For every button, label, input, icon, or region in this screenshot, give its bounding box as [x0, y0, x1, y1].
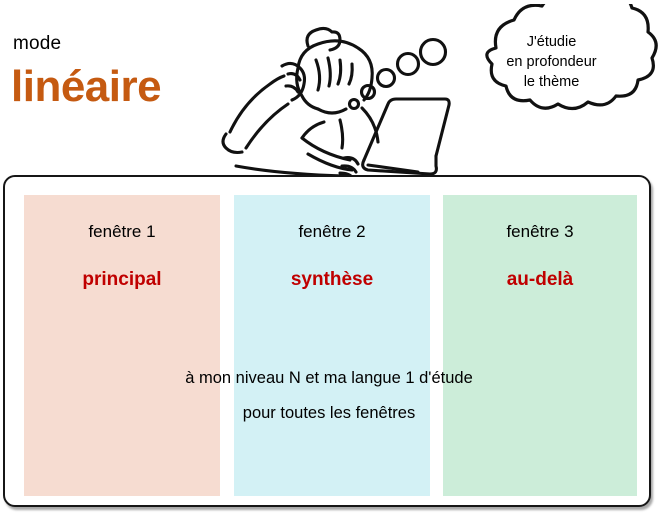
thought-bubble-text: J'étudie en profondeur le thème [484, 32, 619, 92]
bubble-line-1: J'étudie [484, 32, 619, 52]
person-studying-at-laptop-icon [212, 8, 452, 178]
column-1-header: fenêtre 1 [24, 222, 220, 242]
mode-label: mode [13, 33, 61, 55]
page-title: linéaire [11, 62, 161, 112]
column-3-header: fenêtre 3 [443, 222, 637, 242]
bubble-line-2: en profondeur [484, 52, 619, 72]
main-panel: fenêtre 1 principal fenêtre 2 synthèse f… [3, 175, 651, 507]
thought-bubble: J'étudie en profondeur le thème [444, 4, 659, 136]
column-fenetre-2[interactable]: fenêtre 2 synthèse [234, 195, 430, 496]
column-2-value: synthèse [234, 269, 430, 291]
header-area: mode linéaire [0, 0, 659, 175]
column-1-value: principal [24, 269, 220, 291]
bubble-line-3: le thème [484, 72, 619, 92]
column-fenetre-3[interactable]: fenêtre 3 au-delà [443, 195, 637, 496]
column-2-header: fenêtre 2 [234, 222, 430, 242]
column-fenetre-1[interactable]: fenêtre 1 principal [24, 195, 220, 496]
column-3-value: au-delà [443, 269, 637, 291]
